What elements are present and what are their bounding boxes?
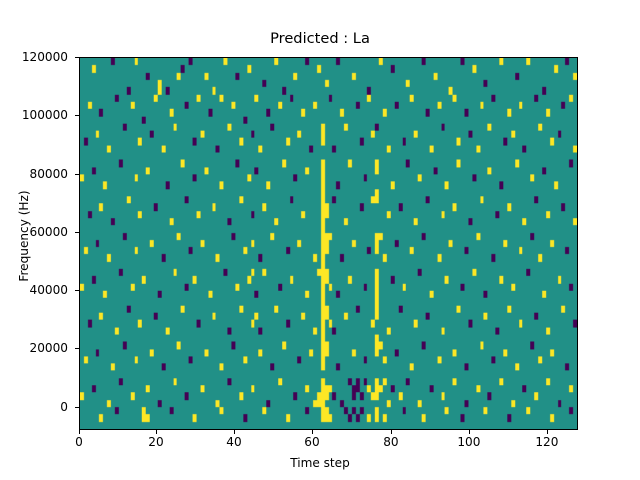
x-tick-label: 120: [517, 436, 577, 448]
chart-title: Predicted : La: [0, 30, 640, 48]
x-tick-label: 100: [439, 436, 499, 448]
x-tick-mark: [547, 430, 548, 434]
y-tick-label: 100000: [22, 109, 68, 121]
x-tick-label: 40: [204, 436, 264, 448]
x-tick-label: 0: [49, 436, 109, 448]
heatmap-canvas: [80, 58, 577, 429]
y-axis-label: Frequency (Hz): [17, 166, 31, 306]
x-tick-mark: [156, 430, 157, 434]
matplotlib-figure: Predicted : La 120000 100000 80000 60000…: [0, 0, 640, 480]
x-tick-mark: [312, 430, 313, 434]
x-tick-label: 60: [282, 436, 342, 448]
y-tick-label: 40000: [30, 284, 68, 296]
x-tick-mark: [391, 430, 392, 434]
y-tick-label: 20000: [30, 342, 68, 354]
x-tick-label: 80: [361, 436, 421, 448]
x-tick-mark: [79, 430, 80, 434]
y-tick-label: 80000: [30, 168, 68, 180]
x-tick-label: 20: [126, 436, 186, 448]
x-axis-label: Time step: [0, 456, 640, 470]
y-tick-label: 0: [60, 401, 68, 413]
plot-area: [79, 57, 578, 430]
y-tick-label: 120000: [22, 51, 68, 63]
x-tick-mark: [234, 430, 235, 434]
y-tick-label: 60000: [30, 226, 68, 238]
x-tick-mark: [469, 430, 470, 434]
